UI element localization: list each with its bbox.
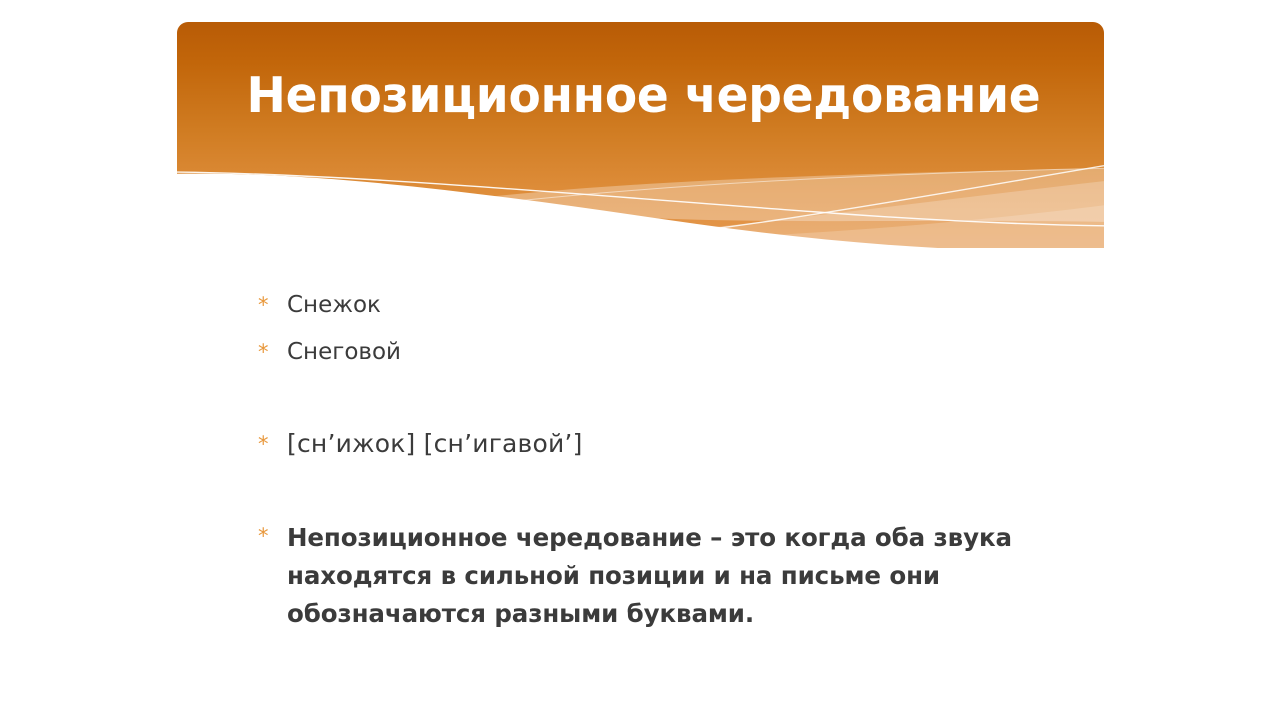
asterisk-bullet-icon: *: [255, 519, 287, 553]
list-item: * Снеговой: [255, 337, 1055, 367]
slide-title-text: Непозиционное чередование: [247, 70, 1041, 121]
list-item-label: Снежок: [287, 290, 1055, 320]
title-banner: Непозиционное чередование: [177, 22, 1104, 248]
definition-label: Непозиционное чередование – это когда об…: [287, 519, 1055, 633]
asterisk-bullet-icon: *: [255, 290, 287, 320]
slide: Непозиционное чередование * Снежок * Сне…: [0, 0, 1280, 720]
slide-title: Непозиционное чередование: [177, 22, 1104, 170]
list-item: * Снежок: [255, 290, 1055, 320]
asterisk-bullet-icon: *: [255, 429, 287, 459]
list-item-transcription: * [сн’ижок] [сн’игавой’]: [255, 429, 1055, 459]
asterisk-bullet-icon: *: [255, 337, 287, 367]
list-item-definition: * Непозиционное чередование – это когда …: [255, 519, 1055, 633]
list-item-label: Снеговой: [287, 337, 1055, 367]
transcription-label: [сн’ижок] [сн’игавой’]: [287, 429, 1055, 459]
